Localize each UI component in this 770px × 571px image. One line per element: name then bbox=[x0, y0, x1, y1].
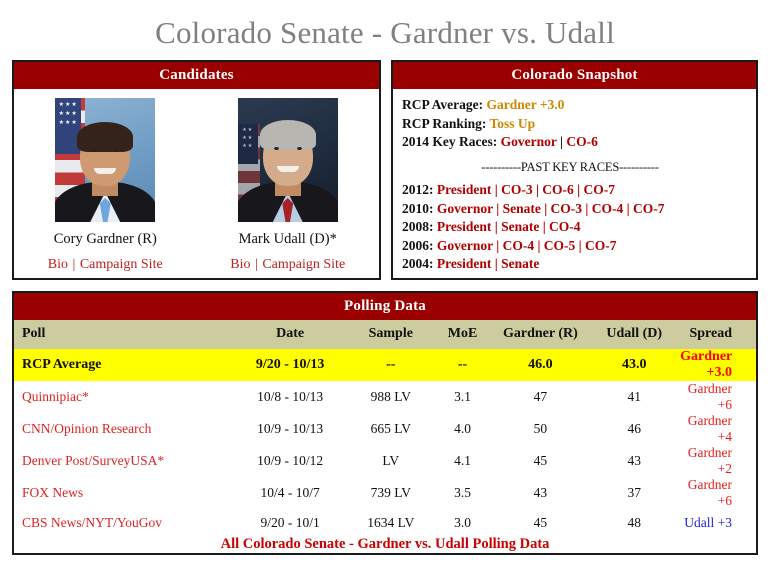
poll-date: 10/4 - 10/7 bbox=[231, 477, 348, 509]
key-races-label: 2014 Key Races: bbox=[402, 134, 497, 149]
polling-data-panel: Polling Data Poll Date Sample MoE Gardne… bbox=[12, 291, 758, 556]
past-race-row-2010: 2010: Governor | Senate | CO-3 | CO-4 | … bbox=[402, 200, 756, 219]
eye-right-shape bbox=[297, 147, 302, 150]
table-row: CBS News/NYT/YouGov 9/20 - 10/1 1634 LV … bbox=[14, 509, 756, 536]
rcp-average-udall: 43.0 bbox=[588, 349, 680, 381]
key-races-line: 2014 Key Races: Governor | CO-6 bbox=[402, 133, 756, 152]
past-race-row-2006: 2006: Governor | CO-4 | CO-5 | CO-7 bbox=[402, 237, 756, 256]
rcp-average-label: RCP Average: bbox=[402, 97, 483, 112]
poll-sample: 665 LV bbox=[349, 413, 433, 445]
candidate-links: Bio | Campaign Site bbox=[208, 257, 368, 274]
campaign-site-link[interactable]: Campaign Site bbox=[262, 257, 345, 272]
poll-spread: Gardner +6 bbox=[680, 381, 756, 413]
top-panels-row: Candidates Cory Gardner (R) Bio bbox=[0, 60, 770, 280]
candidate-card-udall: Mark Udall (D)* Bio | Campaign Site bbox=[208, 98, 368, 274]
poll-spread: Udall +3 bbox=[680, 509, 756, 536]
candidates-panel: Candidates Cory Gardner (R) Bio bbox=[12, 60, 381, 280]
poll-moe: 4.0 bbox=[433, 413, 493, 445]
candidates-list: Cory Gardner (R) Bio | Campaign Site bbox=[14, 89, 379, 278]
poll-gardner: 45 bbox=[492, 509, 588, 536]
poll-udall: 41 bbox=[588, 381, 680, 413]
rcp-average-gardner: 46.0 bbox=[492, 349, 588, 381]
past-race-year: 2006: bbox=[402, 238, 434, 253]
poll-udall: 37 bbox=[588, 477, 680, 509]
poll-spread: Gardner +6 bbox=[680, 477, 756, 509]
past-race-links[interactable]: President | CO-3 | CO-6 | CO-7 bbox=[437, 182, 615, 197]
mouth-shape bbox=[277, 166, 299, 172]
link-separator: | bbox=[254, 257, 259, 272]
poll-name-link[interactable]: FOX News bbox=[14, 477, 231, 509]
campaign-site-link[interactable]: Campaign Site bbox=[80, 257, 163, 272]
rcp-average-value: Gardner +3.0 bbox=[486, 97, 564, 112]
key-race-co6-link[interactable]: CO-6 bbox=[566, 134, 598, 149]
poll-moe: 4.1 bbox=[433, 445, 493, 477]
candidate-name: Cory Gardner (R) bbox=[25, 231, 185, 248]
poll-name-link[interactable]: Quinnipiac* bbox=[14, 381, 231, 413]
rcp-ranking-label: RCP Ranking: bbox=[402, 116, 486, 131]
polling-panel-header: Polling Data bbox=[14, 293, 756, 321]
column-header-spread: Spread bbox=[680, 320, 756, 349]
page-title: Colorado Senate - Gardner vs. Udall bbox=[0, 0, 770, 60]
hair-shape bbox=[260, 120, 316, 150]
table-row: FOX News 10/4 - 10/7 739 LV 3.5 43 37 Ga… bbox=[14, 477, 756, 509]
colorado-snapshot-panel: Colorado Snapshot RCP Average: Gardner +… bbox=[391, 60, 758, 280]
poll-name-link[interactable]: CBS News/NYT/YouGov bbox=[14, 509, 231, 536]
past-race-row-2008: 2008: President | Senate | CO-4 bbox=[402, 218, 756, 237]
past-race-row-2004: 2004: President | Senate bbox=[402, 255, 756, 274]
rcp-average-moe: -- bbox=[433, 349, 493, 381]
mouth-shape bbox=[94, 168, 116, 174]
poll-date: 10/9 - 10/12 bbox=[231, 445, 348, 477]
past-race-links[interactable]: Governor | CO-4 | CO-5 | CO-7 bbox=[437, 238, 617, 253]
past-race-links[interactable]: President | Senate bbox=[437, 256, 539, 271]
table-row: Denver Post/SurveyUSA* 10/9 - 10/12 LV 4… bbox=[14, 445, 756, 477]
candidate-card-gardner: Cory Gardner (R) Bio | Campaign Site bbox=[25, 98, 185, 274]
rcp-average-date: 9/20 - 10/13 bbox=[231, 349, 348, 381]
snapshot-body: RCP Average: Gardner +3.0 RCP Ranking: T… bbox=[393, 89, 756, 278]
past-race-links[interactable]: Governor | Senate | CO-3 | CO-4 | CO-7 bbox=[437, 201, 665, 216]
poll-udall: 43 bbox=[588, 445, 680, 477]
poll-spread: Gardner +2 bbox=[680, 445, 756, 477]
poll-name-link[interactable]: Denver Post/SurveyUSA* bbox=[14, 445, 231, 477]
poll-udall: 46 bbox=[588, 413, 680, 445]
rcp-ranking-line: RCP Ranking: Toss Up bbox=[402, 115, 756, 134]
key-race-governor-link[interactable]: Governor bbox=[501, 134, 557, 149]
eye-left-shape bbox=[274, 147, 279, 150]
rcp-ranking-value: Toss Up bbox=[490, 116, 536, 131]
past-key-races-divider: ----------PAST KEY RACES---------- bbox=[402, 152, 756, 182]
poll-udall: 48 bbox=[588, 509, 680, 536]
poll-gardner: 43 bbox=[492, 477, 588, 509]
column-header-udall: Udall (D) bbox=[588, 320, 680, 349]
table-row: CNN/Opinion Research 10/9 - 10/13 665 LV… bbox=[14, 413, 756, 445]
rcp-average-spread: Gardner +3.0 bbox=[680, 349, 756, 381]
cory-gardner-portrait bbox=[55, 98, 155, 222]
poll-date: 10/9 - 10/13 bbox=[231, 413, 348, 445]
rcp-average-sample: -- bbox=[349, 349, 433, 381]
poll-date: 9/20 - 10/1 bbox=[231, 509, 348, 536]
rcp-average-poll-name: RCP Average bbox=[14, 349, 231, 381]
poll-sample: 988 LV bbox=[349, 381, 433, 413]
poll-sample: 739 LV bbox=[349, 477, 433, 509]
footer-link-row: All Colorado Senate - Gardner vs. Udall … bbox=[14, 536, 756, 553]
candidate-name: Mark Udall (D)* bbox=[208, 231, 368, 248]
column-header-moe: MoE bbox=[433, 320, 493, 349]
bio-link[interactable]: Bio bbox=[230, 257, 250, 272]
candidate-links: Bio | Campaign Site bbox=[25, 257, 185, 274]
past-race-links[interactable]: President | Senate | CO-4 bbox=[437, 219, 581, 234]
poll-spread: Gardner +4 bbox=[680, 413, 756, 445]
mark-udall-portrait bbox=[238, 98, 338, 222]
poll-gardner: 45 bbox=[492, 445, 588, 477]
polling-data-table: Poll Date Sample MoE Gardner (R) Udall (… bbox=[14, 320, 756, 553]
column-header-gardner: Gardner (R) bbox=[492, 320, 588, 349]
key-races-separator: | bbox=[560, 134, 563, 149]
bio-link[interactable]: Bio bbox=[48, 257, 68, 272]
rcp-average-row: RCP Average 9/20 - 10/13 -- -- 46.0 43.0… bbox=[14, 349, 756, 381]
all-polling-data-cell: All Colorado Senate - Gardner vs. Udall … bbox=[14, 536, 756, 553]
column-header-sample: Sample bbox=[349, 320, 433, 349]
poll-date: 10/8 - 10/13 bbox=[231, 381, 348, 413]
snapshot-panel-header: Colorado Snapshot bbox=[393, 62, 756, 90]
poll-sample: 1634 LV bbox=[349, 509, 433, 536]
poll-sample: LV bbox=[349, 445, 433, 477]
poll-moe: 3.0 bbox=[433, 509, 493, 536]
column-header-date: Date bbox=[231, 320, 348, 349]
poll-moe: 3.1 bbox=[433, 381, 493, 413]
table-header-row: Poll Date Sample MoE Gardner (R) Udall (… bbox=[14, 320, 756, 349]
table-row: Quinnipiac* 10/8 - 10/13 988 LV 3.1 47 4… bbox=[14, 381, 756, 413]
all-polling-data-link[interactable]: All Colorado Senate - Gardner vs. Udall … bbox=[221, 536, 550, 552]
past-race-year: 2008: bbox=[402, 219, 434, 234]
poll-gardner: 50 bbox=[492, 413, 588, 445]
poll-gardner: 47 bbox=[492, 381, 588, 413]
candidates-panel-header: Candidates bbox=[14, 62, 379, 90]
poll-name-link[interactable]: CNN/Opinion Research bbox=[14, 413, 231, 445]
past-race-year: 2010: bbox=[402, 201, 434, 216]
rcp-average-line: RCP Average: Gardner +3.0 bbox=[402, 96, 756, 115]
past-race-year: 2012: bbox=[402, 182, 434, 197]
hair-shape bbox=[77, 122, 133, 152]
past-race-year: 2004: bbox=[402, 256, 434, 271]
column-header-poll: Poll bbox=[14, 320, 231, 349]
past-race-row-2012: 2012: President | CO-3 | CO-6 | CO-7 bbox=[402, 181, 756, 200]
poll-moe: 3.5 bbox=[433, 477, 493, 509]
link-separator: | bbox=[72, 257, 77, 272]
